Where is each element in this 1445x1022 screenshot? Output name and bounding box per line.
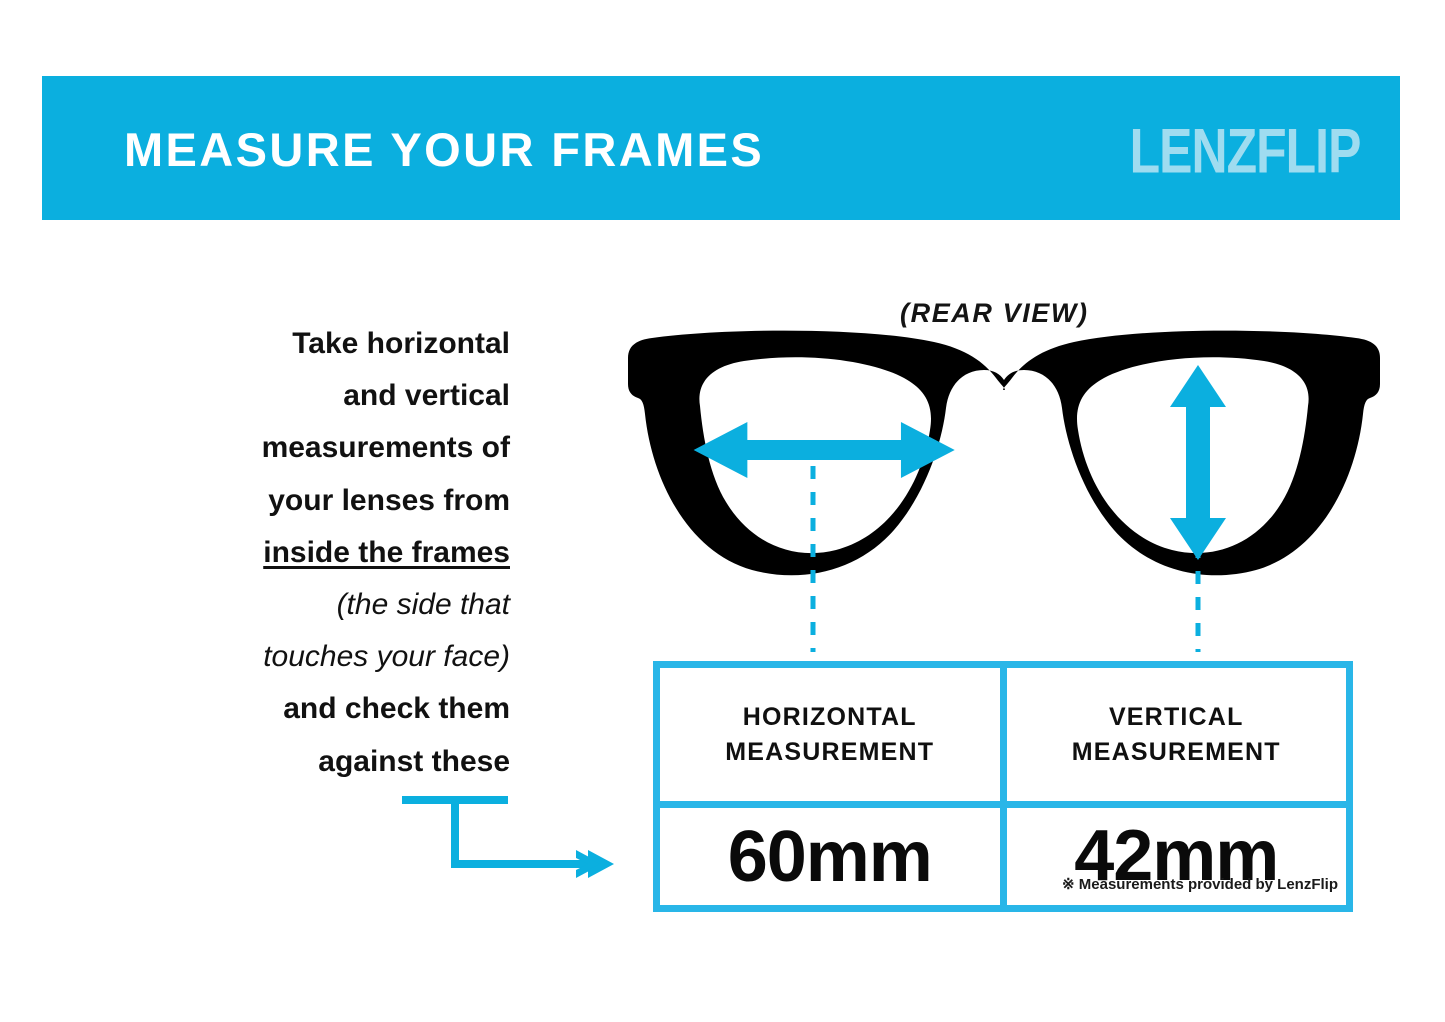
header-banner: MEASURE YOUR FRAMES LENZFLIP — [42, 76, 1400, 220]
page-title: MEASURE YOUR FRAMES — [124, 126, 764, 173]
horizontal-header-text: HORIZONTAL MEASUREMENT — [725, 700, 934, 769]
instruction-line-6: (the side that — [337, 588, 510, 621]
instruction-line-7: touches your face) — [263, 640, 510, 673]
lenzflip-logo: LENZFLIP — [1129, 120, 1360, 183]
instruction-line-8: and check them — [283, 692, 510, 725]
measurement-table: HORIZONTAL MEASUREMENT VERTICAL MEASUREM… — [653, 661, 1353, 912]
instruction-line-2: and vertical — [343, 379, 510, 412]
vertical-header-line2: MEASUREMENT — [1072, 738, 1281, 766]
vertical-header-text: VERTICAL MEASUREMENT — [1072, 700, 1281, 769]
vertical-measurement-arrow — [1170, 365, 1226, 560]
horizontal-header-line2: MEASUREMENT — [725, 738, 934, 766]
instruction-line-9: against these — [318, 745, 510, 778]
rear-view-label: (REAR VIEW) — [900, 298, 1089, 329]
infographic-page: MEASURE YOUR FRAMES LENZFLIP Take horizo… — [0, 0, 1445, 1022]
horizontal-measurement-value: 60mm — [728, 821, 932, 893]
elbow-arrow-icon — [390, 780, 620, 890]
measurements-source-footnote: ※ Measurements provided by LenzFlip — [1062, 875, 1338, 893]
horizontal-header-line1: HORIZONTAL — [743, 703, 917, 731]
vertical-header-cell: VERTICAL MEASUREMENT — [1007, 668, 1347, 801]
vertical-value-cell: 42mm ※ Measurements provided by LenzFlip — [1007, 808, 1347, 905]
measurement-arrows-overlay — [604, 330, 1404, 670]
vertical-header-line1: VERTICAL — [1109, 703, 1244, 731]
instruction-line-3: measurements of — [262, 431, 510, 464]
horizontal-value-cell: 60mm — [660, 808, 1000, 905]
horizontal-measurement-arrow — [694, 422, 955, 478]
horizontal-header-cell: HORIZONTAL MEASUREMENT — [660, 668, 1000, 801]
instruction-text: Take horizontal and vertical measurement… — [120, 318, 510, 788]
instruction-line-5-emphasis: inside the frames — [263, 536, 510, 569]
instruction-line-4: your lenses from — [268, 484, 510, 517]
instruction-line-1: Take horizontal — [292, 327, 510, 360]
